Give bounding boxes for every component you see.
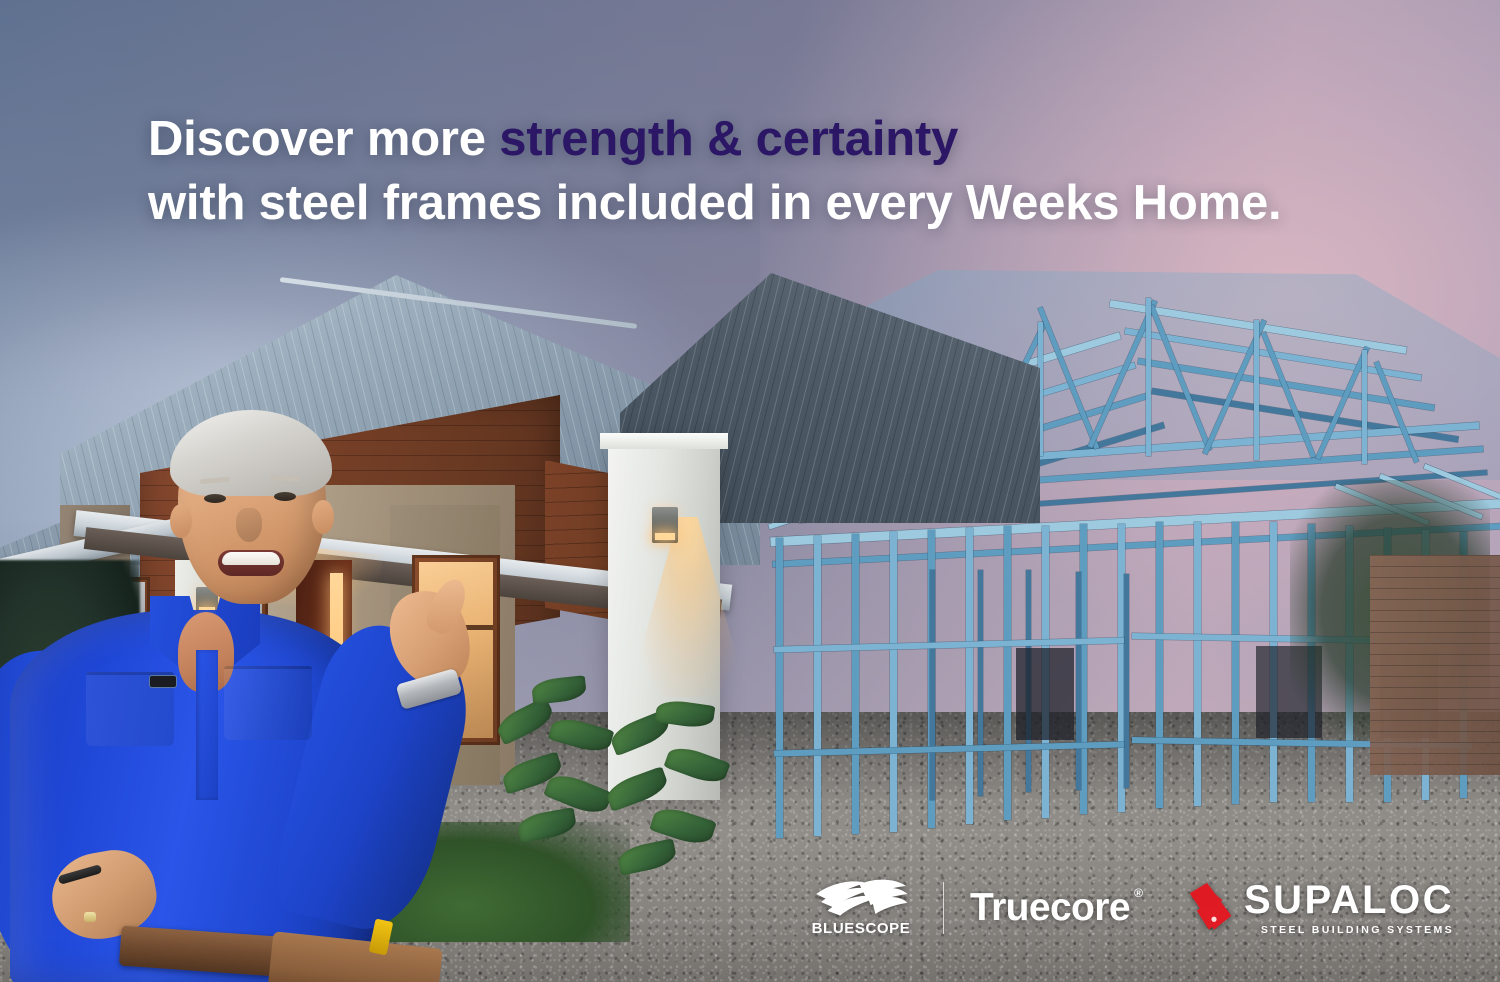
headline-line1-accent: strength & certainty [499,112,958,166]
supaloc-wordmark: SUPALOC [1244,880,1454,920]
interior-stud [1124,574,1129,788]
finger-ring [84,912,96,922]
wall-stud [1004,526,1011,820]
tradesman-presenter [0,400,470,982]
registered-trademark-icon: ® [1134,886,1143,900]
truecore-logo: Truecore ® [970,888,1130,927]
tool-belt-pouch [267,931,442,982]
shirt-placket [196,650,218,800]
plant-leaf [531,675,587,705]
column-cap [600,433,728,449]
logo-divider [943,882,944,934]
wall-stud [1194,522,1201,806]
hair [170,410,332,496]
truss-post [1254,320,1259,460]
plant-leaf [663,742,730,788]
truss-post [1362,350,1367,464]
truecore-wordmark: Truecore [970,888,1130,927]
eye-left [204,494,226,503]
shirt-pocket-right [224,666,312,740]
nose [236,508,262,542]
bluescope-logo: BLUESCOPE [805,878,917,937]
interior-stud [978,570,983,796]
bluescope-wordmark: BLUESCOPE [812,920,911,937]
ear-left [170,504,192,538]
ear-right [312,500,334,534]
supaloc-tagline: STEEL BUILDING SYSTEMS [1244,924,1454,936]
tropical-plant-left [492,672,622,862]
supaloc-red-slash-mark [1188,881,1240,935]
truss-post [1146,298,1151,456]
partner-logo-bar: BLUESCOPE Truecore ® SUPALOC STEEL BUILD… [805,878,1454,937]
supaloc-text-block: SUPALOC STEEL BUILDING SYSTEMS [1244,880,1454,936]
wall-stud [1156,522,1163,808]
neighbouring-brick-wall [1370,555,1500,775]
smiling-mouth [218,550,284,576]
bluescope-wave-mark [813,878,909,918]
tropical-plant-right [604,700,734,890]
plant-leaf [603,766,670,812]
plant-leaf [493,697,557,746]
headline-line-2: with steel frames included in every Week… [148,172,1388,236]
window-opening [1016,648,1074,740]
eye-right [274,492,296,501]
supaloc-logo: SUPALOC STEEL BUILDING SYSTEMS [1188,880,1454,936]
headline: Discover more strength & certainty with … [148,108,1388,235]
plant-leaf [616,838,678,875]
wall-stud [966,528,973,824]
wall-stud [1232,522,1239,804]
shirt-brand-tag [150,676,176,687]
advertisement-banner: Discover more strength & certainty with … [0,0,1500,982]
wall-stud [1080,524,1087,814]
headline-line-1: Discover more strength & certainty [148,108,1388,172]
teeth [222,552,280,565]
plant-leaf [516,807,578,843]
wall-sconce [652,507,678,543]
headline-line1-prefix: Discover more [148,112,499,166]
interior-stud [1076,572,1081,790]
